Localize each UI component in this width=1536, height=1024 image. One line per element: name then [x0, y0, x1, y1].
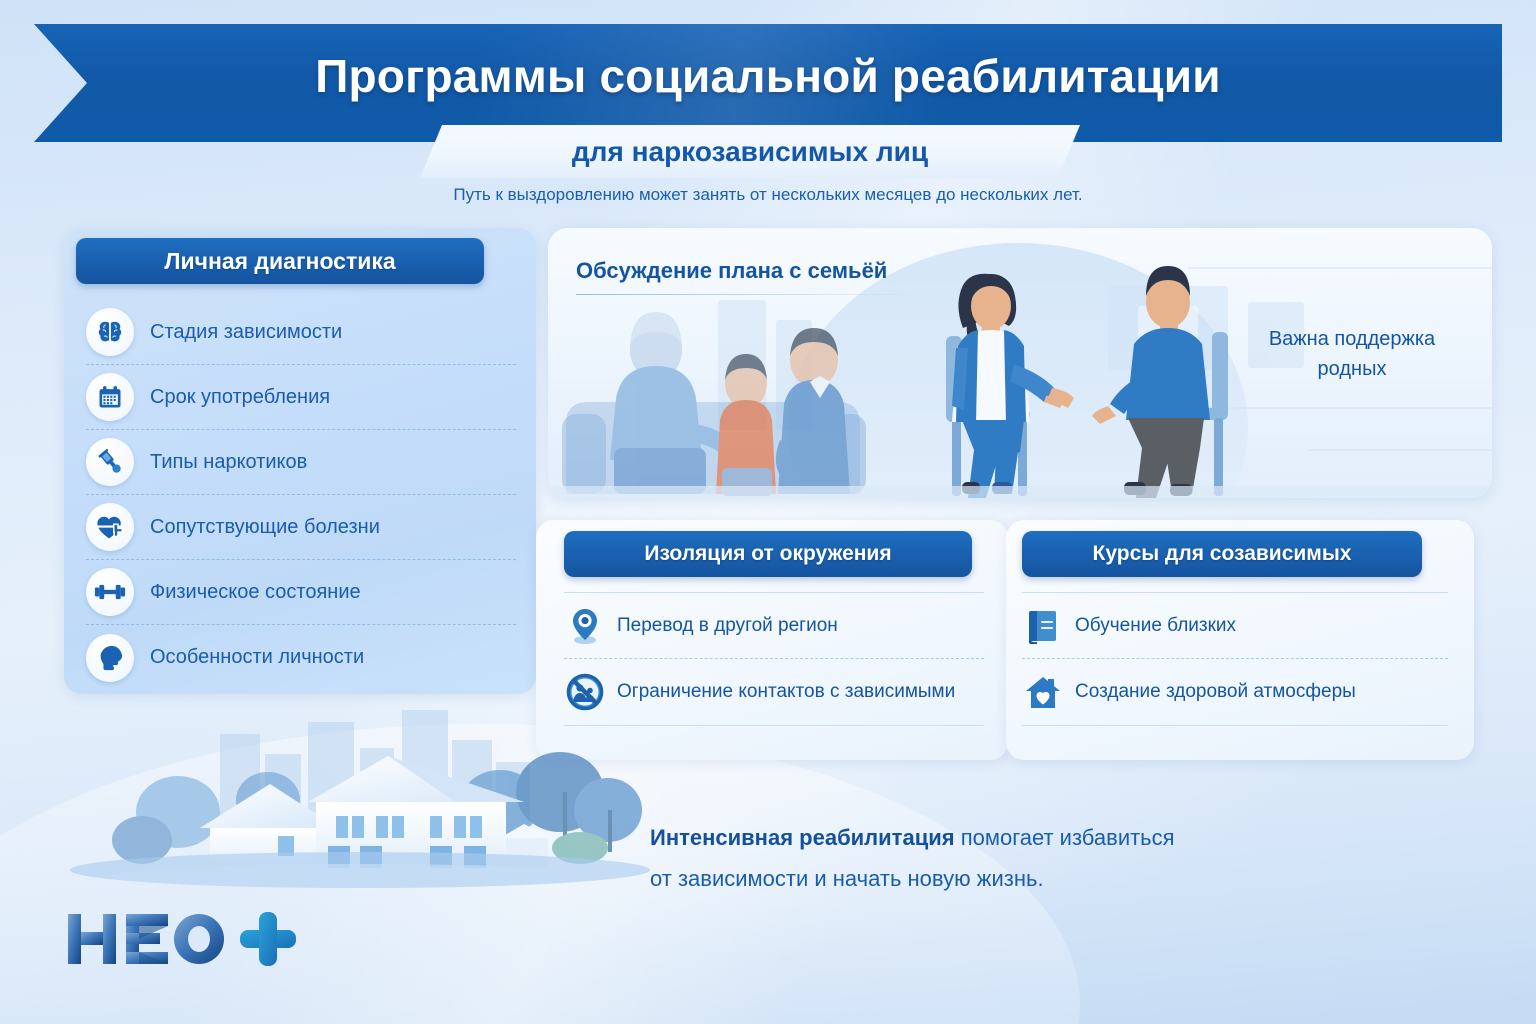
- list-item-label: Стадия зависимости: [150, 321, 342, 344]
- list-item[interactable]: Физическое состояние: [86, 560, 516, 625]
- syringe-icon: [86, 438, 134, 486]
- support-note: Важна поддержка родных: [1240, 324, 1464, 384]
- list-item-label: Особенности личности: [150, 646, 364, 669]
- list-item[interactable]: Срок употребления: [86, 365, 516, 430]
- header: Программы социальной реабилитации для на…: [0, 24, 1536, 146]
- list-item[interactable]: Обучение близких: [1022, 592, 1448, 659]
- diagnostics-list: Стадия зависимости Срок употребления: [86, 300, 516, 690]
- illustration-rule: [576, 294, 926, 295]
- list-item-label: Типы наркотиков: [150, 451, 307, 474]
- lead-text: Путь к выздоровлению может занять от нес…: [0, 185, 1536, 205]
- footer-strong: Интенсивная реабилитация: [650, 825, 955, 850]
- head-profile-icon: [86, 634, 134, 682]
- list-item[interactable]: Перевод в другой регион: [564, 592, 984, 659]
- footer-rest: помогает избавиться: [955, 825, 1175, 850]
- calendar-icon: [86, 373, 134, 421]
- heart-plus-icon: [86, 503, 134, 551]
- diagnostics-heading: Личная диагностика: [76, 238, 484, 284]
- brain-icon: [86, 308, 134, 356]
- house-heart-icon: [1022, 671, 1064, 713]
- map-pin-icon: [564, 605, 606, 647]
- logo-neo-plus[interactable]: [62, 908, 312, 970]
- list-item-label: Ограничение контактов с зависимыми: [617, 681, 955, 703]
- list-item-label: Срок употребления: [150, 386, 330, 409]
- list-item[interactable]: Стадия зависимости: [86, 300, 516, 365]
- page-subtitle: для наркозависимых лиц: [420, 125, 1080, 178]
- list-item[interactable]: Сопутствующие болезни: [86, 495, 516, 560]
- family-discussion-card: Обсуждение плана с семьёй Важна поддержк…: [548, 228, 1492, 498]
- book-icon: [1022, 605, 1064, 647]
- courses-heading: Курсы для созависимых: [1022, 531, 1422, 577]
- list-item-label: Физическое состояние: [150, 581, 361, 604]
- isolation-heading: Изоляция от окружения: [564, 531, 972, 577]
- list-item-label: Обучение близких: [1075, 615, 1236, 637]
- list-item-label: Перевод в другой регион: [617, 615, 838, 637]
- courses-list: Обучение близких Создание здоровой атмос…: [1022, 592, 1448, 726]
- list-item[interactable]: Создание здоровой атмосферы: [1022, 659, 1448, 726]
- dumbbell-icon: [86, 568, 134, 616]
- illustration-title: Обсуждение плана с семьёй: [576, 258, 887, 284]
- page-title: Программы социальной реабилитации: [0, 24, 1536, 128]
- list-item-label: Создание здоровой атмосферы: [1075, 681, 1356, 703]
- list-item-label: Сопутствующие болезни: [150, 516, 380, 539]
- list-item[interactable]: Особенности личности: [86, 625, 516, 690]
- list-item[interactable]: Типы наркотиков: [86, 430, 516, 495]
- rehab-house-illustration: [60, 700, 650, 900]
- footer-line2: от зависимости и начать новую жизнь.: [650, 859, 1350, 900]
- footer-text: Интенсивная реабилитация помогает избави…: [650, 818, 1350, 899]
